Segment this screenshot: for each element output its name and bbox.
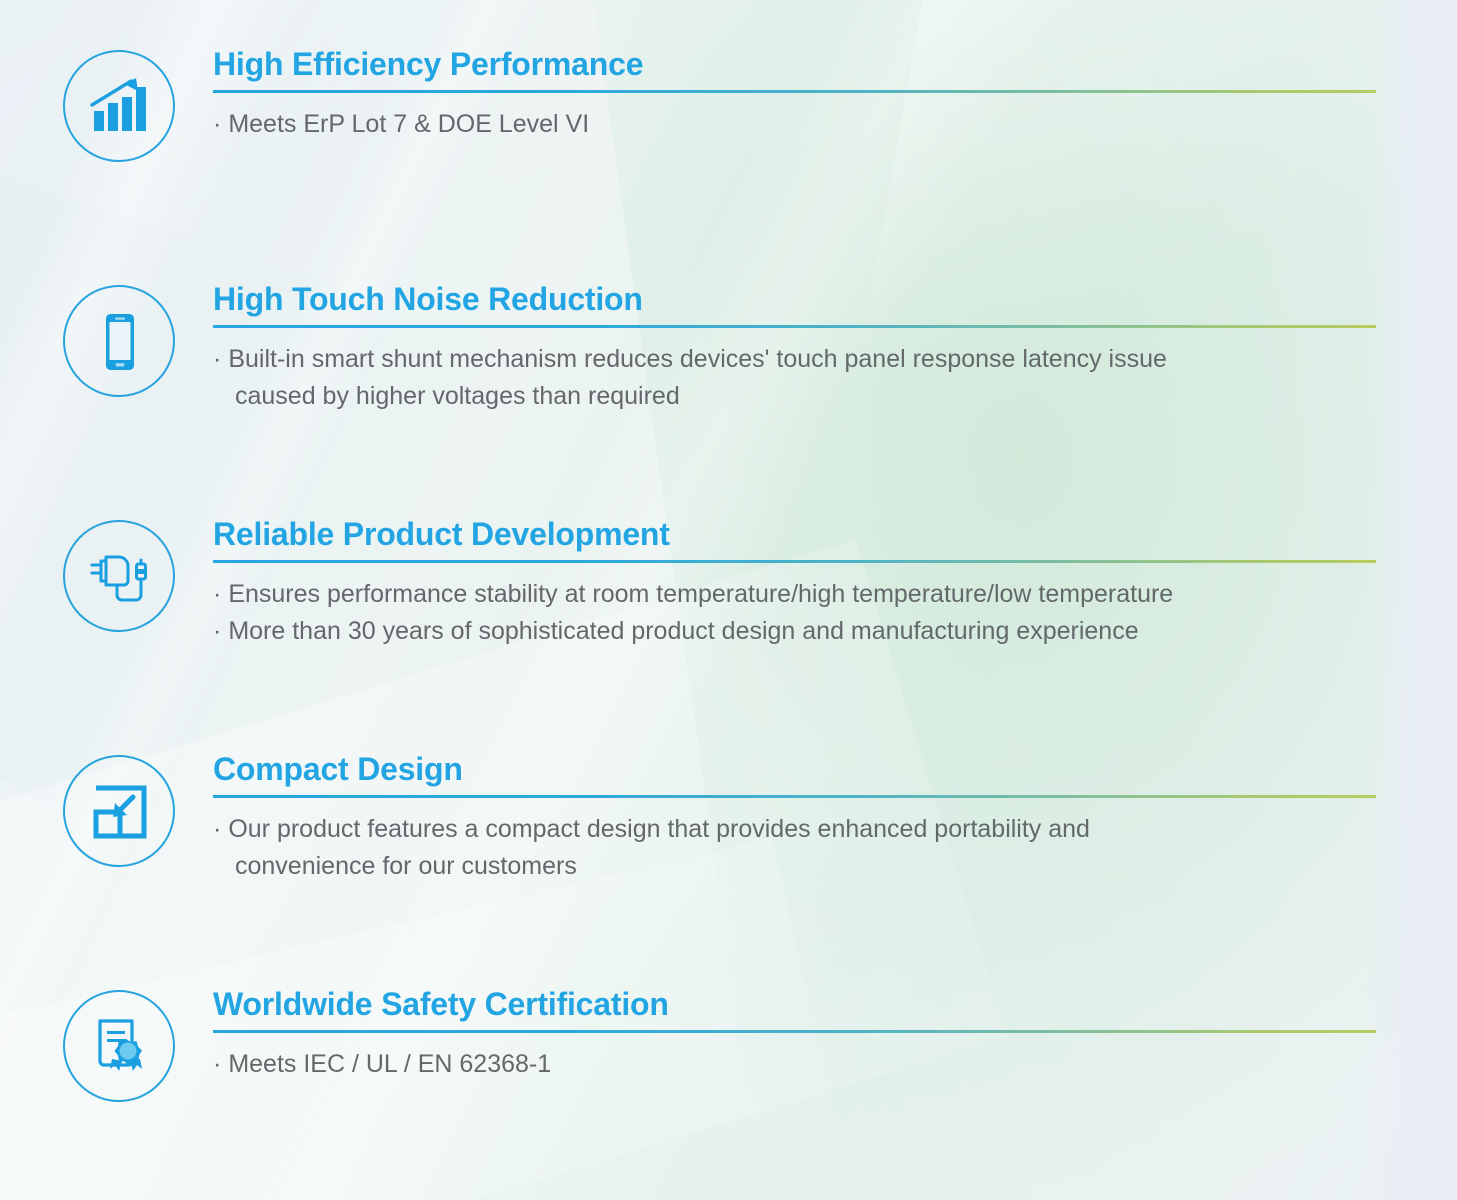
bullet-continuation: caused by higher voltages than required xyxy=(213,378,1413,415)
bullet-marker: · xyxy=(213,811,221,848)
feature-icon-wrap xyxy=(57,279,182,404)
bullet-text: More than 30 years of sophisticated prod… xyxy=(228,617,1138,645)
feature-body: Worldwide Safety Certification ·Meets IE… xyxy=(213,984,1457,1083)
feature-title: Worldwide Safety Certification xyxy=(213,984,1457,1024)
feature-divider xyxy=(213,795,1376,798)
bullet-marker: · xyxy=(213,341,221,378)
feature-item-reliable-product-development: Reliable Product Development ·Ensures pe… xyxy=(0,514,1457,650)
feature-title: Compact Design xyxy=(213,749,1457,789)
feature-body: Reliable Product Development ·Ensures pe… xyxy=(213,514,1457,650)
feature-icon-wrap xyxy=(57,514,182,639)
feature-item-worldwide-safety-certification: Worldwide Safety Certification ·Meets IE… xyxy=(0,984,1457,1109)
bullet-marker: · xyxy=(213,1046,221,1083)
feature-title: High Touch Noise Reduction xyxy=(213,279,1457,319)
feature-bullets: ·Built-in smart shunt mechanism reduces … xyxy=(213,341,1457,415)
certificate-seal-icon xyxy=(86,1013,154,1081)
feature-item-high-touch-noise-reduction: High Touch Noise Reduction ·Built-in sma… xyxy=(0,279,1457,415)
bullet-text: Built-in smart shunt mechanism reduces d… xyxy=(228,345,1167,373)
bullet-item: ·Built-in smart shunt mechanism reduces … xyxy=(213,341,1413,378)
feature-item-compact-design: Compact Design ·Our product features a c… xyxy=(0,749,1457,885)
feature-divider xyxy=(213,325,1376,328)
bullet-text: Ensures performance stability at room te… xyxy=(228,580,1173,608)
bullet-item: ·Meets IEC / UL / EN 62368-1 xyxy=(213,1046,1413,1083)
feature-bullets: ·Our product features a compact design t… xyxy=(213,811,1457,885)
smartphone-icon xyxy=(86,308,154,376)
bullet-item: ·Ensures performance stability at room t… xyxy=(213,576,1413,613)
feature-title: Reliable Product Development xyxy=(213,514,1457,554)
power-adapter-icon xyxy=(86,543,154,611)
feature-bullets: ·Meets ErP Lot 7 & DOE Level VI xyxy=(213,106,1457,143)
feature-divider xyxy=(213,560,1376,563)
feature-divider xyxy=(213,90,1376,93)
bullet-marker: · xyxy=(213,106,221,143)
bullet-item: ·Our product features a compact design t… xyxy=(213,811,1413,848)
feature-body: Compact Design ·Our product features a c… xyxy=(213,749,1457,885)
feature-icon-wrap xyxy=(57,984,182,1109)
feature-bullets: ·Ensures performance stability at room t… xyxy=(213,576,1457,650)
bullet-item: ·Meets ErP Lot 7 & DOE Level VI xyxy=(213,106,1413,143)
feature-item-high-efficiency-performance: High Efficiency Performance ·Meets ErP L… xyxy=(0,44,1457,169)
feature-title: High Efficiency Performance xyxy=(213,44,1457,84)
compact-resize-icon xyxy=(86,778,154,846)
bullet-continuation: convenience for our customers xyxy=(213,848,1413,885)
bullet-text: Meets ErP Lot 7 & DOE Level VI xyxy=(228,110,589,138)
bullet-marker: · xyxy=(213,613,221,650)
feature-divider xyxy=(213,1030,1376,1033)
feature-icon-wrap xyxy=(57,749,182,874)
bullet-text: Our product features a compact design th… xyxy=(228,815,1090,843)
feature-bullets: ·Meets IEC / UL / EN 62368-1 xyxy=(213,1046,1457,1083)
bullet-marker: · xyxy=(213,576,221,613)
growth-bar-chart-icon xyxy=(86,73,154,141)
bullet-text: Meets IEC / UL / EN 62368-1 xyxy=(228,1050,551,1078)
feature-body: High Touch Noise Reduction ·Built-in sma… xyxy=(213,279,1457,415)
feature-list: High Efficiency Performance ·Meets ErP L… xyxy=(0,0,1457,1200)
bullet-item: ·More than 30 years of sophisticated pro… xyxy=(213,613,1413,650)
feature-body: High Efficiency Performance ·Meets ErP L… xyxy=(213,44,1457,143)
feature-icon-wrap xyxy=(57,44,182,169)
